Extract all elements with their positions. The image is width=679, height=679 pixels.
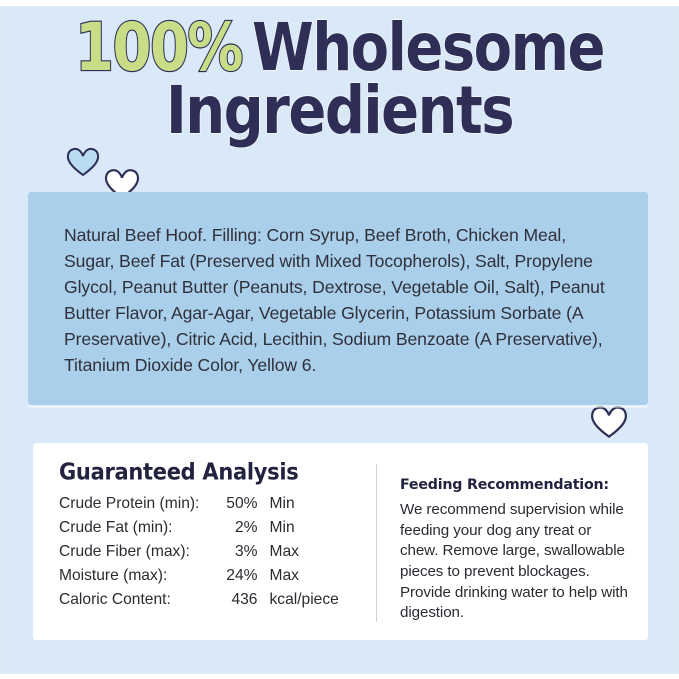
feeding-recommendation-title: Feeding Recommendation: <box>400 477 632 493</box>
table-row: Moisture (max): 24% Max <box>59 564 349 588</box>
guaranteed-analysis-heading: Guaranteed Analysis <box>59 458 298 485</box>
feeding-recommendation: Feeding Recommendation: We recommend sup… <box>400 477 632 624</box>
table-row: Crude Fat (min): 2% Min <box>59 516 349 540</box>
guaranteed-analysis-table: Crude Protein (min): 50% Min Crude Fat (… <box>59 492 349 612</box>
analysis-unit: Min <box>269 492 349 516</box>
heart-blue-outline-icon <box>66 145 100 177</box>
feeding-recommendation-body: We recommend supervision while feeding y… <box>400 500 632 624</box>
analysis-unit: Min <box>269 516 349 540</box>
ingredients-text: Natural Beef Hoof. Filling: Corn Syrup, … <box>64 222 612 378</box>
analysis-unit: Max <box>269 540 349 564</box>
table-row: Caloric Content: 436 kcal/piece <box>59 588 349 612</box>
analysis-value: 3% <box>220 540 270 564</box>
analysis-value: 24% <box>220 564 270 588</box>
product-label-page: 100%Wholesome Ingredients Natural Beef H… <box>0 0 679 679</box>
table-row: Crude Fiber (max): 3% Max <box>59 540 349 564</box>
table-row: Crude Protein (min): 50% Min <box>59 492 349 516</box>
heart-white-outline-icon <box>590 403 628 439</box>
analysis-label: Crude Fiber (max): <box>59 540 220 564</box>
analysis-value: 50% <box>220 492 270 516</box>
analysis-value: 2% <box>220 516 270 540</box>
analysis-unit: kcal/piece <box>269 588 349 612</box>
analysis-unit: Max <box>269 564 349 588</box>
analysis-value: 436 <box>220 588 270 612</box>
analysis-label: Crude Fat (min): <box>59 516 220 540</box>
card-divider <box>376 464 377 622</box>
analysis-label: Crude Protein (min): <box>59 492 220 516</box>
analysis-label: Caloric Content: <box>59 588 220 612</box>
analysis-label: Moisture (max): <box>59 564 220 588</box>
